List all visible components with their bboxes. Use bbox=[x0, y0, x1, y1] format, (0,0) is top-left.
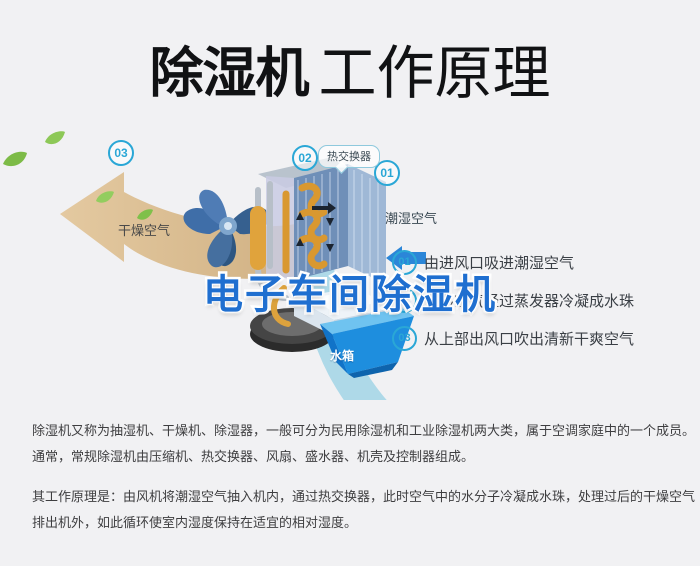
heat-exchanger-callout: 热交换器 bbox=[318, 145, 380, 168]
leaf-icon bbox=[95, 190, 115, 206]
page-title-light: 工作原理 bbox=[318, 41, 550, 106]
diagram-badge-03: 03 bbox=[108, 140, 134, 166]
paragraph-line: 排出机外，如此循环使室内湿度保持在适宜的相对湿度。 bbox=[32, 510, 672, 536]
paragraph-line: 其工作原理是：由风机将潮湿空气抽入机内，通过热交换器，此时空气中的水分子冷凝成水… bbox=[32, 484, 672, 510]
page-title: 除湿机工作原理 bbox=[0, 26, 700, 110]
paragraph-line: 除湿机又称为抽湿机、干燥机、除湿器，一般可分为民用除湿机和工业除湿机两大类，属于… bbox=[32, 418, 672, 444]
description-paragraph-1: 除湿机又称为抽湿机、干燥机、除湿器，一般可分为民用除湿机和工业除湿机两大类，属于… bbox=[32, 418, 672, 470]
step-text: 从上部出风口吹出清新干爽空气 bbox=[424, 328, 634, 349]
description-paragraph-2: 其工作原理是：由风机将潮湿空气抽入机内，通过热交换器，此时空气中的水分子冷凝成水… bbox=[32, 484, 672, 536]
label-water-tank: 水箱 bbox=[330, 347, 354, 364]
leaf-icon bbox=[44, 130, 66, 148]
step-number: 03 bbox=[392, 326, 417, 351]
page-title-bold: 除湿机 bbox=[149, 44, 308, 104]
diagram-badge-02: 02 bbox=[292, 145, 318, 171]
paragraph-line: 通常，常规除湿机由压缩机、热交换器、风扇、盛水器、机壳及控制器组成。 bbox=[32, 444, 672, 470]
label-humid-air: 潮湿空气 bbox=[385, 208, 437, 227]
dehumidifier-infographic: 除湿机工作原理 bbox=[0, 0, 700, 566]
leaf-icon bbox=[2, 150, 28, 170]
watermark-overlay-text: 电子车间除湿机 bbox=[0, 262, 700, 320]
label-dry-air: 干燥空气 bbox=[118, 220, 170, 239]
step-item: 03 从上部出风口吹出清新干爽空气 bbox=[392, 319, 692, 357]
